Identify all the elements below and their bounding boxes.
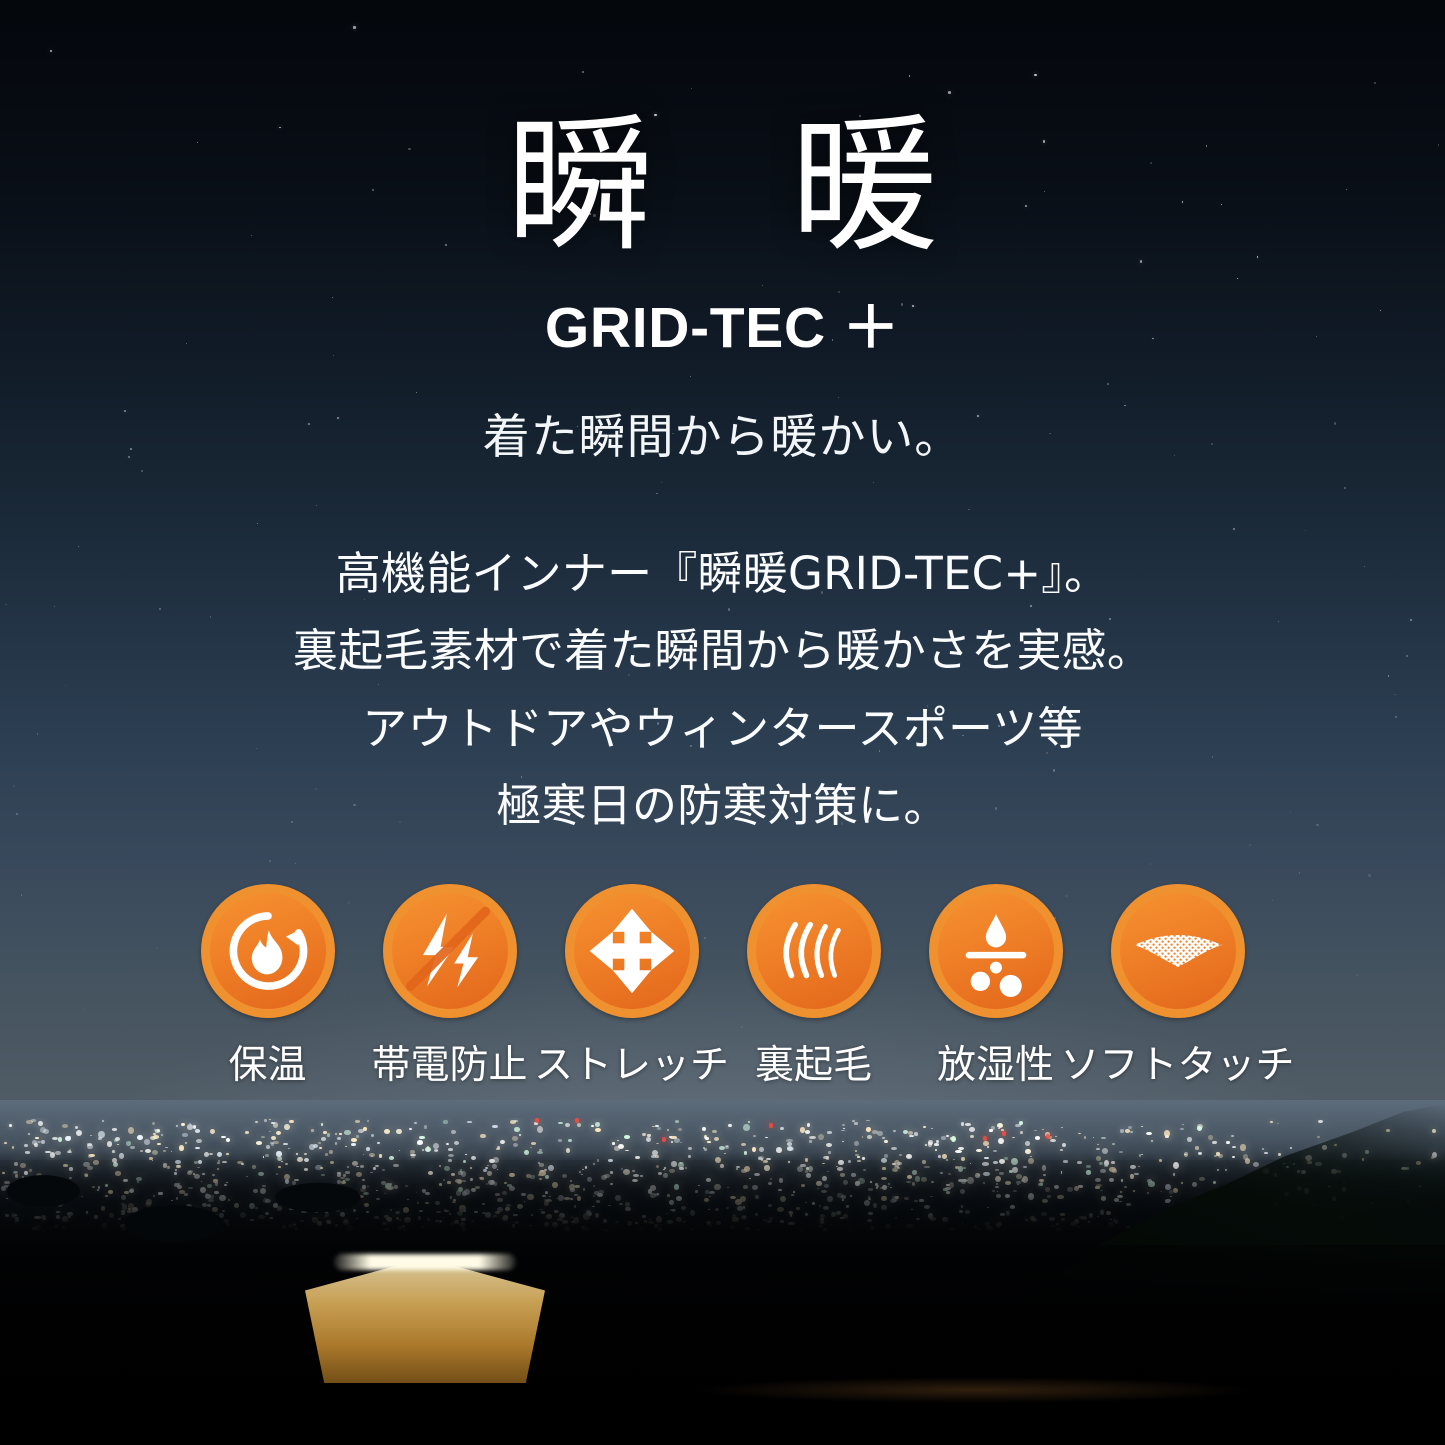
city-light [512,1136,518,1141]
city-light [1034,1130,1037,1132]
city-light [714,1137,719,1141]
city-light [58,1137,62,1142]
city-light [809,1140,811,1142]
city-light [678,1128,681,1131]
city-light [165,1147,168,1149]
city-light [1093,1137,1095,1138]
city-light [1078,1133,1081,1134]
city-light [882,1137,885,1140]
city-light [68,1136,71,1138]
city-light [674,1138,680,1144]
city-light [356,1135,359,1138]
city-light [675,1120,680,1123]
city-light [273,1122,279,1128]
city-light [1317,1136,1320,1137]
city-light [480,1134,485,1138]
city-light [1151,1140,1153,1141]
city-light [90,1135,93,1137]
feature-item-stretch: ストレッチ [552,884,712,1090]
city-light [321,1137,326,1141]
city-light [399,1150,401,1151]
city-light [565,1123,570,1128]
description-block: 高機能インナー『瞬暖GRID-TEC+』。 裏起毛素材で着た瞬間から暖かさを実感… [0,535,1445,845]
feature-item-thermal: 保温 [188,884,348,1090]
tent-canopy [305,1258,545,1383]
city-light [656,1143,659,1144]
city-light [454,1141,459,1145]
moisture-release-icon [950,905,1042,997]
city-light [24,1144,28,1147]
city-light [323,1131,327,1134]
city-light [288,1148,290,1150]
city-light [934,1143,939,1146]
city-light [705,1137,709,1140]
city-light [1035,1136,1040,1139]
city-light [196,1139,202,1143]
city-light [98,1137,101,1140]
city-light [467,1121,471,1124]
page-title: 瞬 暖 [0,112,1445,260]
city-light [998,1138,1004,1144]
city-light [657,1127,661,1130]
city-light [117,1144,119,1145]
city-light [161,1134,163,1136]
feature-label: ストレッチ [534,1034,729,1090]
tent-right [1105,1215,1315,1365]
city-light [1025,1141,1030,1146]
city-light [809,1136,815,1139]
city-light [1226,1141,1231,1144]
city-light [862,1136,864,1138]
city-light [448,1148,454,1151]
city-light [646,1137,651,1142]
feature-label: ソフトタッチ [1061,1034,1295,1090]
city-light [854,1141,859,1147]
city-light [1164,1130,1170,1137]
city-light [396,1129,402,1135]
city-light [531,1142,536,1145]
city-light [1042,1129,1044,1130]
city-light [765,1137,768,1139]
city-light [419,1136,425,1140]
city-light [245,1131,249,1134]
city-light [366,1147,370,1151]
feature-item-softtouch: ソフトタッチ [1098,884,1258,1090]
city-light [1212,1141,1216,1144]
four-way-arrow-icon [584,903,680,999]
city-light [595,1128,601,1133]
city-light [842,1141,844,1142]
city-light [1208,1135,1213,1139]
city-light [107,1141,113,1147]
city-light [152,1122,155,1126]
city-light [866,1120,870,1122]
description-line-2: 裏起毛素材で着た瞬間から暖かさを実感。 [0,612,1445,689]
city-light [319,1147,322,1149]
city-light [612,1142,614,1145]
city-light [877,1131,883,1136]
city-light [409,1128,412,1130]
city-light [625,1150,629,1152]
city-light [891,1147,897,1150]
city-light [513,1143,518,1147]
feature-item-antistatic: 帯電防止 [370,884,530,1090]
city-light [345,1146,347,1147]
city-light [1060,1149,1063,1151]
city-light [182,1133,187,1137]
city-light [12,1146,15,1149]
antenna-light [769,1123,773,1128]
city-light [1096,1148,1100,1150]
city-light [1197,1126,1202,1131]
city-light [424,1125,428,1129]
city-light [264,1119,268,1122]
city-light [126,1141,132,1146]
city-light [283,1143,288,1146]
description-line-1: 高機能インナー『瞬暖GRID-TEC+』。 [0,535,1445,612]
city-light [313,1144,318,1148]
city-light [500,1140,505,1144]
city-light [112,1128,117,1131]
city-light [351,1143,356,1147]
city-light [680,1142,683,1144]
city-light [351,1138,357,1142]
city-light [195,1129,201,1133]
fabric-sheet-icon [1128,901,1228,1001]
city-light [210,1129,215,1135]
city-light [914,1132,918,1136]
city-light [1112,1143,1115,1145]
city-light [577,1123,581,1127]
city-light [617,1140,619,1141]
feature-label: 帯電防止 [371,1034,527,1090]
feature-label: 保温 [228,1034,306,1090]
city-light [321,1123,323,1126]
city-light [1262,1148,1264,1150]
city-light [181,1123,185,1126]
city-light [568,1139,572,1143]
city-light [62,1124,68,1128]
city-light [1084,1136,1086,1139]
city-light [1141,1126,1143,1127]
city-light [344,1130,350,1134]
city-light [854,1122,858,1124]
city-light [1120,1129,1124,1133]
city-light [725,1145,729,1149]
city-light [255,1121,258,1123]
city-light [558,1139,562,1142]
city-light [9,1124,12,1127]
city-light [266,1145,270,1149]
city-light [492,1125,498,1128]
city-light [433,1143,439,1149]
city-light [144,1139,150,1145]
city-light [667,1129,670,1131]
tent-string-light [334,1254,516,1270]
city-light [269,1131,271,1132]
city-light [76,1130,82,1136]
city-light [363,1127,367,1131]
city-light [652,1126,655,1128]
city-light [187,1124,193,1130]
city-light [422,1149,424,1151]
city-light [1277,1123,1279,1124]
no-static-icon [398,899,502,1003]
feature-badge [747,884,881,1018]
star [295,863,296,864]
city-light [935,1149,937,1152]
city-light [128,1127,135,1134]
feature-badge [201,884,335,1018]
city-light [335,1142,337,1144]
city-light [807,1123,810,1127]
city-light [595,1122,600,1127]
city-light [743,1124,750,1131]
city-light [377,1142,380,1144]
antenna-light [983,1136,987,1141]
city-light [102,1120,104,1121]
city-light [969,1127,975,1132]
city-light [1290,1147,1293,1149]
city-light [519,1134,521,1135]
city-light [154,1129,156,1131]
city-light [1270,1121,1273,1124]
city-light [753,1135,756,1137]
city-light [841,1130,845,1132]
city-light [75,1126,78,1129]
city-light [28,1133,30,1134]
city-light [843,1128,845,1130]
city-light [805,1130,811,1134]
city-light [1318,1120,1324,1123]
city-light [414,1122,417,1124]
feature-badge [1111,884,1245,1018]
antenna-light [662,1137,666,1142]
city-light [153,1135,159,1138]
ground-glow [694,1377,1254,1403]
city-light [87,1144,92,1148]
city-light [702,1127,706,1131]
city-light [958,1147,964,1150]
antenna-light [1046,1134,1050,1139]
city-light [923,1126,927,1128]
city-light [256,1141,262,1145]
city-light [1050,1139,1056,1142]
city-light [1240,1144,1246,1150]
star [1368,874,1370,876]
feature-label: 放湿性 [937,1034,1054,1090]
city-light [38,1121,43,1127]
city-light [355,1120,360,1122]
description-line-3: アウトドアやウィンタースポーツ等 [0,690,1445,767]
brand-name: GRID-TEC ＋ [0,282,1445,364]
city-light [1020,1131,1023,1134]
city-light [35,1137,39,1139]
city-light [114,1139,117,1142]
city-light [712,1130,717,1133]
city-light [965,1123,971,1126]
city-light [417,1140,422,1145]
city-light [1130,1131,1133,1133]
tent-canopy [1105,1215,1315,1365]
feature-item-fleece: 裏起毛 [734,884,894,1090]
city-light [893,1130,896,1132]
city-light [936,1140,939,1144]
city-light [1182,1124,1184,1125]
city-light [908,1131,913,1135]
city-light [1097,1144,1099,1146]
city-light [1180,1128,1184,1131]
city-light [624,1135,630,1139]
city-light [269,1119,271,1120]
city-light [318,1142,321,1144]
city-light [867,1135,872,1139]
city-light [271,1136,276,1140]
city-light [558,1122,564,1125]
tent-left [305,1258,545,1383]
city-light [26,1120,32,1124]
city-light [367,1120,369,1121]
city-light [884,1140,888,1144]
city-light [327,1133,330,1137]
city-light [41,1140,45,1144]
city-light [1187,1137,1192,1142]
city-light [335,1133,338,1134]
city-light [130,1146,134,1149]
city-light [866,1127,872,1132]
city-light [707,1141,711,1143]
city-light [909,1135,914,1137]
city-light [1128,1126,1132,1129]
city-light [276,1131,281,1135]
city-light [284,1124,290,1130]
city-light [1062,1143,1066,1147]
antenna-light [575,1118,579,1123]
city-light [176,1125,178,1126]
city-light [32,1140,37,1145]
city-light [537,1126,543,1133]
city-light [221,1136,226,1138]
tagline: 着た瞬間から暖かい。 [0,398,1445,467]
feature-badge [565,884,699,1018]
feature-badge [383,884,517,1018]
city-light [185,1142,187,1144]
city-light [451,1130,456,1134]
feature-item-moisture: 放湿性 [916,884,1076,1090]
city-light [273,1141,279,1145]
city-light [530,1147,533,1149]
feature-label: 裏起毛 [755,1034,872,1090]
flame-cycle-icon [223,906,313,996]
city-light [1015,1124,1021,1128]
city-light [52,1137,58,1141]
city-light [741,1143,746,1146]
city-light [997,1123,1003,1128]
city-light [842,1124,845,1126]
city-light [1055,1136,1057,1137]
city-light [1012,1137,1015,1138]
city-light [496,1148,500,1150]
city-light [443,1120,447,1124]
city-light [642,1133,646,1136]
city-light [719,1146,725,1151]
city-light [671,1141,673,1143]
city-light [818,1134,824,1140]
city-light [925,1144,927,1146]
city-light [987,1146,989,1148]
landscape-photo [0,1100,1445,1445]
antenna-light [535,1118,539,1123]
city-light [826,1143,832,1148]
city-light [195,1147,200,1149]
feature-badge [929,884,1063,1018]
city-light [311,1129,313,1132]
description-line-4: 極寒日の防寒対策に。 [0,767,1445,844]
city-light [339,1133,342,1134]
city-light [337,1137,341,1140]
city-light [1231,1135,1233,1137]
feature-icon-row: 保温 帯電防止 [0,884,1445,1090]
city-light [137,1135,142,1140]
city-light [591,1125,594,1127]
city-light [946,1135,949,1138]
city-light [179,1145,184,1150]
city-light [827,1131,832,1134]
city-light [780,1127,784,1130]
city-light [1232,1146,1236,1148]
city-light [157,1143,161,1145]
city-light [289,1120,294,1123]
city-light [728,1124,732,1127]
city-light [931,1128,933,1129]
city-light [261,1136,265,1138]
antenna-light [1002,1131,1006,1136]
city-light [371,1134,374,1137]
city-light [4,1142,7,1144]
city-light [1195,1146,1200,1150]
city-light [384,1129,390,1134]
poster: 瞬 暖 GRID-TEC ＋ 着た瞬間から暖かい。 高機能インナー『瞬暖GRID… [0,0,1445,1445]
city-light [514,1120,518,1122]
city-light [961,1122,965,1125]
city-light [446,1143,449,1145]
star [1299,872,1301,874]
city-light [941,1136,945,1140]
city-light [852,1120,855,1121]
city-light [514,1127,520,1133]
city-light [1061,1127,1064,1129]
city-light [618,1144,624,1149]
city-light [928,1140,934,1145]
city-light [226,1138,231,1143]
city-light [688,1147,692,1150]
city-light [1146,1132,1152,1136]
city-light [989,1129,993,1132]
city-light [1101,1137,1106,1140]
city-light [970,1135,975,1139]
heat-waves-icon [767,904,861,998]
content-overlay: 瞬 暖 GRID-TEC ＋ 着た瞬間から暖かい。 高機能インナー『瞬暖GRID… [0,0,1445,845]
city-light [748,1121,751,1123]
